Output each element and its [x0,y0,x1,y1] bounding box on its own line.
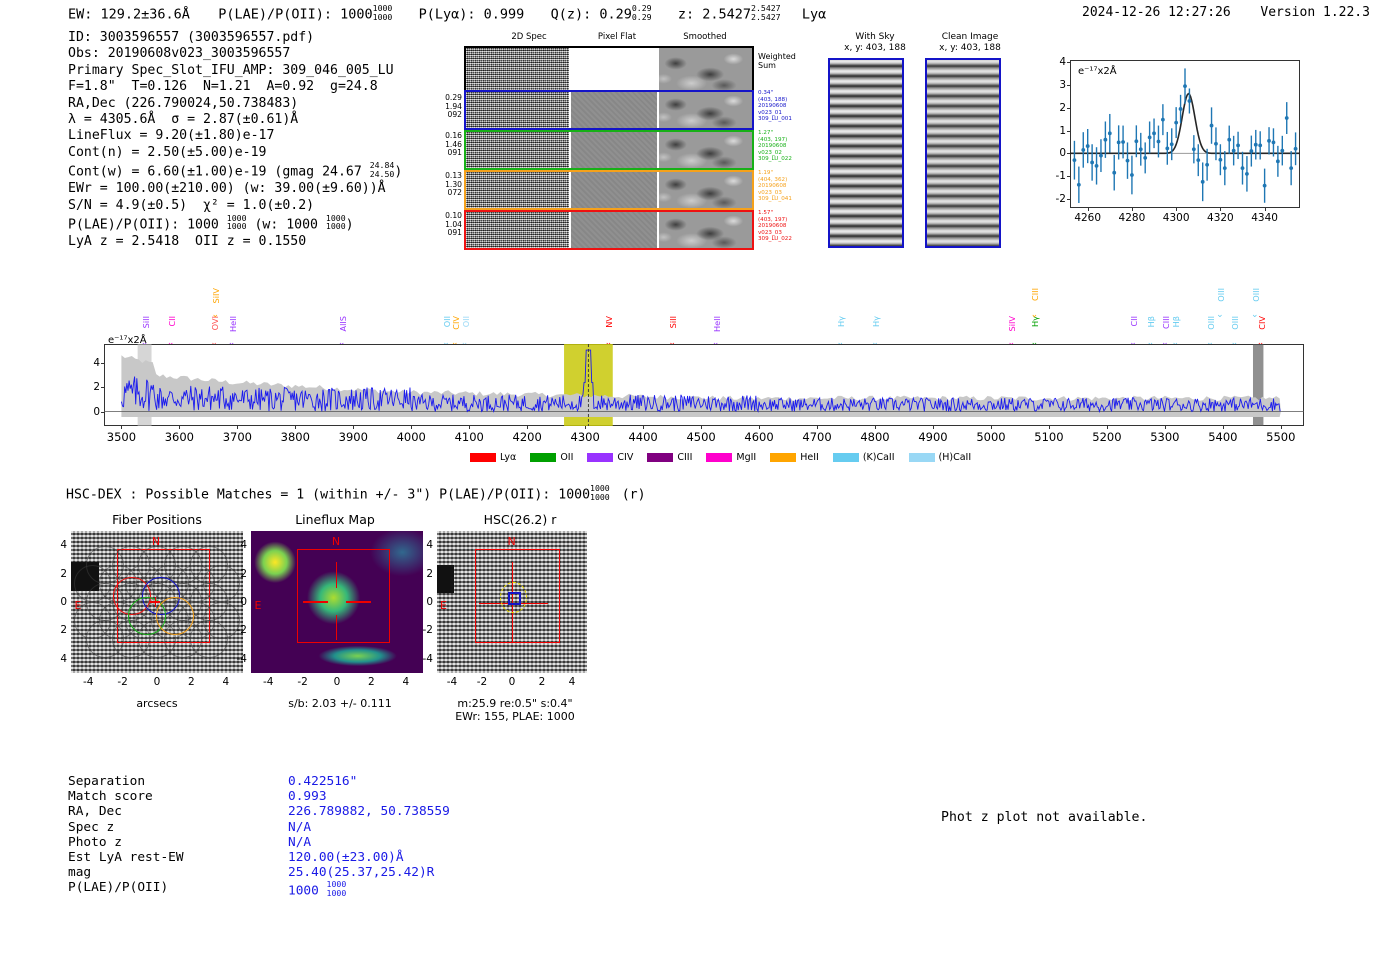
emission-line-label: OII [461,316,471,327]
tick-mark [1281,426,1282,429]
emission-line-label: OIII [1216,288,1226,302]
tick-mark [817,426,818,429]
fiber-row-4-smoothed [659,212,752,248]
hsc-match-box [508,592,522,605]
info-cont-w: Cont(w) = 6.60(±1.00)e-19 (gmag 24.67 24… [68,161,402,181]
spectrum-ytick: 0 [82,406,100,418]
tick-mark [1067,85,1070,86]
match-key-mag: mag [68,865,278,880]
spectrum-xtick: 4800 [860,430,889,444]
spectrum-xtick: 3600 [165,430,194,444]
fiber-positions-xtick: 2 [188,676,195,688]
legend-item: Lyα [470,452,516,463]
fiber-row-4-flat [571,212,657,248]
fiber-row-1-label: 0.29 1.94 092 [432,94,462,120]
fiber-row-3-meta: 1.19" (404, 362) 20190608 v023_03 309_LU… [758,170,818,203]
info-id: ID: 3003596557 (3003596557.pdf) [68,30,402,46]
spectrum-xtick: 5300 [1150,430,1179,444]
emission-line-label: SiIV [211,288,221,304]
lineflux-map-ytick: 2 [229,568,247,580]
match-value-3: N/A [288,820,450,835]
match-table-values: 0.422516"0.993226.789882, 50.738559N/AN/… [288,774,450,899]
tick-mark [1265,208,1266,211]
fiber-row-1-2d [466,92,569,128]
emission-line-label: CIII [1161,316,1171,329]
lineflux-crosshair-right [346,601,372,602]
legend-item: OII [530,452,573,463]
fiber-outline [190,546,228,584]
fiber-positions-ytick: 4 [49,653,67,665]
line-profile-ytick: -1 [1044,170,1066,182]
tick-mark [1067,108,1070,109]
clean-image-cutout [925,58,1001,248]
fiber-row-2-meta: 1.27" (403, 197) 20190608 v023_02 309_LU… [758,130,818,163]
header-ew: EW: 129.2±36.6Å [68,7,190,23]
fiber-row-3-2d [466,172,569,208]
match-value-1: 0.993 [288,789,450,804]
match-key-p-lae-p-oii: P(LAE)/P(OII) [68,880,278,895]
fiber-row-1 [464,90,754,130]
spectrum-xtick: 5400 [1208,430,1237,444]
match-value-6: 25.40(25.37,25.42)R [288,865,450,880]
legend-item: CIV [587,452,633,463]
legend-swatch [770,453,796,462]
lineflux-map-xtick: 2 [368,676,375,688]
fiber-positions-xtick: -2 [117,676,127,688]
col-header-2d-spec: 2D Spec [484,32,574,42]
legend-swatch [833,453,859,462]
tick-mark [179,426,180,429]
fiber-positions-xtick: 0 [154,676,161,688]
lineflux-map-ytick: 0 [229,596,247,608]
spectrum-xtick: 4900 [918,430,947,444]
emission-line-label: CIV [451,316,461,330]
spectrum-xtick: 4500 [686,430,715,444]
emission-line-label: Hβ [1146,316,1156,327]
tick-mark [1049,426,1050,429]
fiber-row-4-2d [466,212,569,248]
emission-line-label: HeII [228,316,238,332]
clean-image-header: Clean Image x, y: 403, 188 [910,32,1030,53]
fiber-row-3-flat [571,172,657,208]
source-info-block: ID: 3003596557 (3003596557.pdf) Obs: 201… [68,30,402,250]
fiber-row-2 [464,130,754,170]
report-timestamp: 2024-12-26 12:27:26 [1082,5,1231,20]
fiber-row-4 [464,210,754,250]
info-primary-spec: Primary Spec_Slot_IFU_AMP: 309_046_005_L… [68,63,402,79]
fiber-row-3 [464,170,754,210]
tick-mark [1176,208,1177,211]
legend-label: CIV [617,452,633,463]
with-sky-cutout [828,58,904,248]
hscdex-plae-bounds: 10001000 [590,484,610,501]
emission-line-label: CII [167,316,177,327]
emission-line-label: SiII [668,316,678,328]
tick-mark [237,426,238,429]
line-profile-ytick: 2 [1044,102,1066,114]
lineflux-crosshair-top [336,562,337,588]
hsc-r-panel: N E [437,531,587,673]
spectrum-xtick: 4700 [802,430,831,444]
weighted-sum-label: Weighted Sum [758,52,796,70]
fiber-positions-xtick: -4 [83,676,93,688]
spectrum-xtick: 4300 [571,430,600,444]
match-value-4: N/A [288,835,450,850]
spectrum-xtick: 3900 [339,430,368,444]
spectrum-units: e⁻¹⁷x2Å [108,335,147,346]
legend-label: Lyα [500,452,516,463]
hsc-r-xtick: 2 [539,676,546,688]
emission-line-bracket: ⌄ [1031,310,1039,320]
tick-mark [875,426,876,429]
match-key-est-lya-rest-ew: Est LyA rest-EW [68,850,278,865]
tick-mark [101,412,104,413]
fiber-positions-panel: N E [71,531,243,673]
fiber-row-1-flat [571,92,657,128]
header-qz-bounds: 0.290.29 [632,4,652,21]
panel-title-hsc-r: HSC(26.2) r [430,512,610,527]
line-profile-canvas [1070,60,1300,208]
match-key-match-score: Match score [68,789,278,804]
tick-mark [121,426,122,429]
tick-mark [353,426,354,429]
emission-line-bracket: ⌄ [212,310,220,320]
info-lineflux: LineFlux = 9.20(±1.80)e-17 [68,128,402,144]
legend-label: MgII [736,452,756,463]
lineflux-map-xtick: 0 [334,676,341,688]
tick-mark [1067,199,1070,200]
tick-mark [1067,153,1070,154]
line-profile-ytick: 4 [1044,56,1066,68]
spectrum-xtick: 5500 [1266,430,1295,444]
hsc-r-ytick: 0 [415,596,433,608]
photoz-message: Phot z plot not available. [941,810,1147,825]
legend-swatch [647,453,673,462]
spectrum-xtick: 5100 [1034,430,1063,444]
legend-label: (H)CaII [939,452,972,463]
tick-mark [1067,131,1070,132]
weighted-sum-2d [466,48,569,92]
spectrum-canvas [104,344,1304,426]
tick-mark [101,387,104,388]
header-plya: P(Lyα): 0.999 [419,7,525,23]
fiber-row-2-label: 0.16 1.46 091 [432,132,462,158]
spectrum-legend: LyαOIICIVCIIIMgIIHeII(K)CaII(H)CaII [470,452,971,463]
spectrum-ytick: 4 [82,357,100,369]
twod-spec-panel: 2D Spec Pixel Flat Smoothed Weighted Sum… [432,32,762,252]
tick-mark [1165,426,1166,429]
fiber-center-marker-v [155,597,156,607]
fiber-row-2-2d [466,132,569,168]
match-key-ra-dec: RA, Dec [68,804,278,819]
compass-north-hsc: N [508,535,516,548]
hsc-r-ytick: -2 [415,624,433,636]
emission-line-label: Hβ [1171,316,1181,327]
emission-line-label: NV [604,316,614,328]
weighted-sum-flat [571,48,657,92]
legend-swatch [470,453,496,462]
weighted-sum-row [464,46,754,94]
emission-line-labels: SiII⌄CII⌄OVI⌄HeII⌄SiIV⌄AlIS⌄OII⌄CIV⌄OII⌄… [96,276,1306,346]
spectrum-xtick: 4400 [628,430,657,444]
fiber-row-4-meta: 1.57" (403, 197) 20190608 v023_03 309_LU… [758,210,818,243]
panel-title-lineflux-map: Lineflux Map [245,512,425,527]
fiber-row-2-flat [571,132,657,168]
header-z-line: Lyα [802,7,826,23]
hscdex-title: HSC-DEX : Possible Matches = 1 (within +… [66,484,646,503]
lineflux-ifu-box [297,549,390,643]
match-value-5: 120.00(±23.00)Å [288,850,450,865]
emission-line-label: AlIS [338,316,348,332]
lineflux-map-xtick: 4 [402,676,409,688]
header-plae-bounds: 10001000 [373,4,393,21]
header-z-bounds: 2.54272.5427 [751,4,781,21]
legend-swatch [706,453,732,462]
emission-line-label: SiIV [1007,316,1017,332]
header-z: z: 2.5427 [678,7,751,23]
tick-mark [643,426,644,429]
hsc-r-xtick: 0 [509,676,516,688]
match-key-photo-z: Photo z [68,835,278,850]
hsc-r-xtick: -2 [477,676,487,688]
weighted-sum-smoothed [659,48,752,92]
hsc-r-ytick: -4 [415,653,433,665]
legend-item: CIII [647,452,692,463]
lineflux-map-ytick: 4 [229,539,247,551]
match-value-2: 226.789882, 50.738559 [288,804,450,819]
fiber-positions-ytick: 2 [49,624,67,636]
line-profile-xtick: 4300 [1163,212,1190,224]
emission-line-label: SiII [141,316,151,328]
fiber-positions-ytick: 2 [49,568,67,580]
line-profile-xtick: 4340 [1251,212,1278,224]
header-summary-line: EW: 129.2±36.6Å P(LAE)/P(OII): 100010001… [68,4,826,23]
tick-mark [1107,426,1108,429]
col-header-smoothed: Smoothed [660,32,750,42]
match-plae-bounds: 10001000 [327,880,347,897]
hsc-r-xtick: -4 [447,676,457,688]
fiber-row-1-meta: 0.34" (403, 188) 20190608 v023_01 309_LU… [758,90,818,123]
timestamp-version: 2024-12-26 12:27:26 Version 1.22.3 [1082,5,1370,20]
lineflux-map-caption: s/b: 2.03 +/- 0.111 [240,697,440,710]
hsc-r-xtick: 4 [569,676,576,688]
spectrum-xtick: 4600 [744,430,773,444]
tick-mark [991,426,992,429]
legend-swatch [909,453,935,462]
report-version: Version 1.22.3 [1260,5,1370,20]
compass-north-lineflux: N [332,535,340,548]
full-spectrum-plot: SiII⌄CII⌄OVI⌄HeII⌄SiIV⌄AlIS⌄OII⌄CIV⌄OII⌄… [96,276,1306,466]
fiber-positions-xtick: 4 [222,676,229,688]
tick-mark [1067,176,1070,177]
clean-image-coords: x, y: 403, 188 [910,43,1030,54]
tick-mark [1132,208,1133,211]
info-cont-n: Cont(n) = 2.50(±5.00)e-19 [68,145,402,161]
emission-line-label: OIII [1251,288,1261,302]
info-radec: RA,Dec (226.790024,50.738483) [68,96,402,112]
fiber-positions-xlabel: arcsecs [67,697,247,710]
hsc-r-ytick: 4 [415,539,433,551]
line-profile-ytick: 0 [1044,147,1066,159]
compass-east-lineflux: E [254,599,261,612]
match-table-keys: SeparationMatch scoreRA, DecSpec zPhoto … [68,774,278,896]
lineflux-crosshair-left [303,601,329,602]
legend-item: (H)CaII [909,452,972,463]
line-profile-ytick: -2 [1044,193,1066,205]
info-wavelength: λ = 4305.6Å σ = 2.87(±0.61)Å [68,112,402,128]
lineflux-map-xtick: -4 [263,676,273,688]
tick-mark [1067,62,1070,63]
emission-line-label: CIV [1257,316,1267,330]
legend-swatch [587,453,613,462]
match-value-0: 0.422516" [288,774,450,789]
spectrum-xtick: 4200 [513,430,542,444]
line-profile-xtick: 4320 [1207,212,1234,224]
emission-line-label: Hγ [836,316,846,327]
spectrum-xtick: 4100 [455,430,484,444]
hsc-r-caption: m:25.9 re:0.5" s:0.4" EWr: 155, PLAE: 10… [425,697,605,723]
emission-line-bracket: ⌄ [1216,310,1224,320]
emission-line-label: OIII [1206,316,1216,330]
line-profile-xtick: 4260 [1074,212,1101,224]
hscdex-title-filter: (r) [622,488,646,503]
info-plae: P(LAE)/P(OII): 1000 10001000 (w: 1000 10… [68,214,402,234]
tick-mark [1220,208,1221,211]
fiber-row-3-smoothed [659,172,752,208]
lineflux-map-ytick: -2 [229,624,247,636]
hscdex-title-text: HSC-DEX : Possible Matches = 1 (within +… [66,488,590,503]
tick-mark [1088,208,1089,211]
lineflux-crosshair-bottom [336,615,337,641]
tick-mark [933,426,934,429]
info-ewr: EWr = 100.00(±210.00) (w: 39.00(±9.60))Å [68,181,402,197]
emission-line-label: HeII [712,316,722,332]
match-key-separation: Separation [68,774,278,789]
spectrum-xtick: 5000 [976,430,1005,444]
line-profile-xtick: 4280 [1119,212,1146,224]
col-header-pixel-flat: Pixel Flat [574,32,660,42]
tick-mark [1223,426,1224,429]
legend-label: HeII [800,452,819,463]
spectrum-xtick: 3700 [223,430,252,444]
tick-mark [295,426,296,429]
match-key-spec-z: Spec z [68,820,278,835]
spectrum-xtick: 4000 [397,430,426,444]
spectrum-xtick: 3500 [107,430,136,444]
fiber-row-3-label: 0.13 1.30 072 [432,172,462,198]
legend-swatch [530,453,556,462]
hsc-bright-blob [437,565,454,593]
fiber-row-4-label: 0.10 1.04 091 [432,212,462,238]
legend-label: OII [560,452,573,463]
header-qz: Q(z): 0.29 [551,7,632,23]
spectrum-ytick: 2 [82,381,100,393]
info-seeing: F=1.8" T=0.126 N=1.21 A=0.92 g=24.8 [68,79,402,95]
fiber-positions-ytick: 0 [49,596,67,608]
legend-item: (K)CaII [833,452,895,463]
tick-mark [527,426,528,429]
tick-mark [585,426,586,429]
line-profile-ytick: 3 [1044,79,1066,91]
header-plae: P(LAE)/P(OII): 1000 [218,7,372,23]
tick-mark [759,426,760,429]
info-sn-chi2: S/N = 4.9(±0.5) χ² = 1.0(±0.2) [68,198,402,214]
lineflux-map-ytick: -4 [229,653,247,665]
fiber-positions-ytick: 4 [49,539,67,551]
hsc-r-ytick: 2 [415,568,433,580]
emission-line-label: OIII [1230,316,1240,330]
legend-label: (K)CaII [863,452,895,463]
tick-mark [701,426,702,429]
tick-mark [469,426,470,429]
legend-item: MgII [706,452,756,463]
panel-title-fiber-positions: Fiber Positions [67,512,247,527]
tick-mark [411,426,412,429]
emission-line-label: Hγ [871,316,881,327]
emission-line-label: CII [1129,316,1139,327]
compass-east-hsc: E [440,599,447,612]
match-value-7: 1000 10001000 [288,880,450,899]
tick-mark [101,363,104,364]
spectrum-xtick: 5200 [1092,430,1121,444]
lineflux-map-panel: N E [251,531,423,673]
legend-label: CIII [677,452,692,463]
fiber-row-1-smoothed [659,92,752,128]
line-profile-plot: e⁻¹⁷x2Å 42604280430043204340 -2-101234 [1036,52,1306,252]
clean-image-title: Clean Image [910,32,1030,43]
line-profile-ytick: 1 [1044,125,1066,137]
info-redshifts: LyA z = 2.5418 OII z = 0.1550 [68,234,402,250]
spectrum-xtick: 3800 [281,430,310,444]
fiber-row-2-smoothed [659,132,752,168]
lineflux-map-xtick: -2 [297,676,307,688]
legend-item: HeII [770,452,819,463]
emission-line-label: CIII [1030,288,1040,301]
highlighted-fiber-circle-4 [156,597,194,635]
info-obs: Obs: 20190608v023_3003596557 [68,46,402,62]
